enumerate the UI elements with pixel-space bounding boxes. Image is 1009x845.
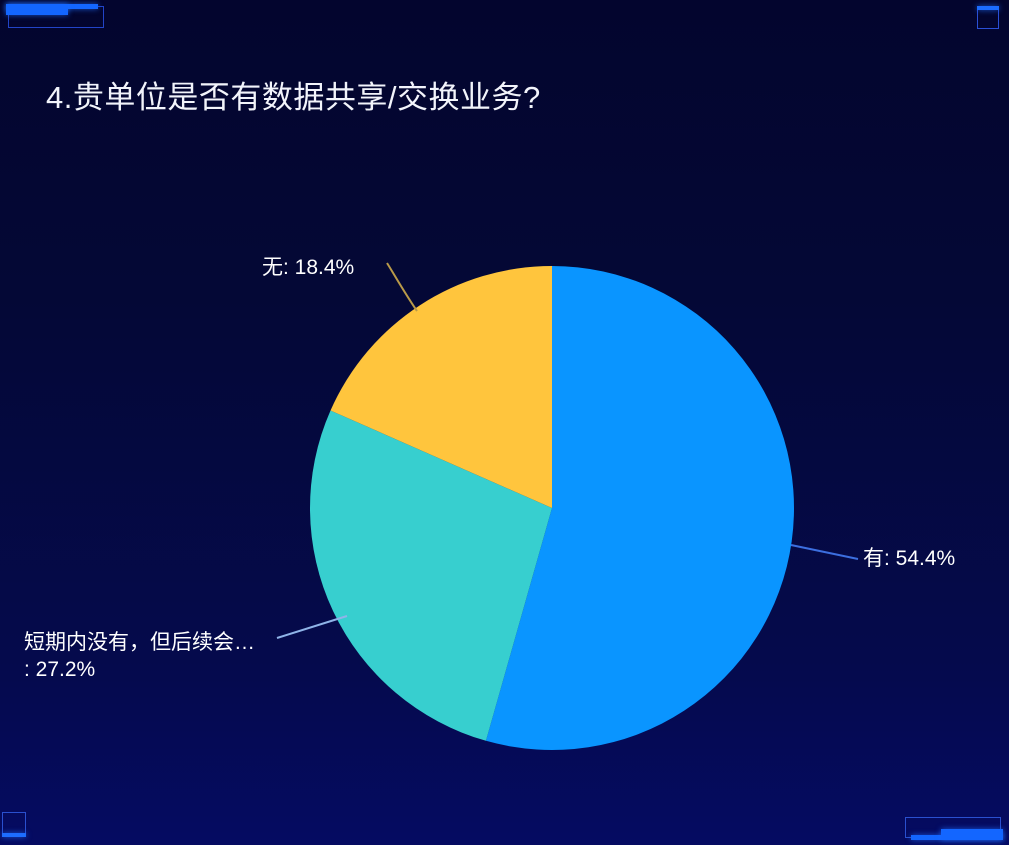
pie-chart: 无: 18.4% 有: 54.4% 短期内没有，但后续会… : 27.2% [0, 0, 1009, 845]
pie-label-none-text: 无: 18.4% [262, 256, 354, 279]
pie-label-shortterm: 短期内没有，但后续会… : 27.2% [24, 630, 294, 684]
pie-chart-svg [0, 0, 1009, 845]
pie-label-shortterm-line2: : 27.2% [24, 657, 294, 684]
pie-slices [310, 266, 794, 750]
pie-label-none: 无: 18.4% [262, 255, 354, 282]
dashboard-slide: 4.贵单位是否有数据共享/交换业务? 无: 18.4% 有: 54.4% 短期内… [0, 0, 1009, 845]
pie-label-shortterm-line1: 短期内没有，但后续会… [24, 630, 294, 657]
pie-label-yes-text: 有: 54.4% [863, 547, 955, 570]
leader-line-yes [791, 545, 858, 559]
leader-line-none [387, 263, 417, 311]
pie-label-yes: 有: 54.4% [863, 546, 955, 573]
